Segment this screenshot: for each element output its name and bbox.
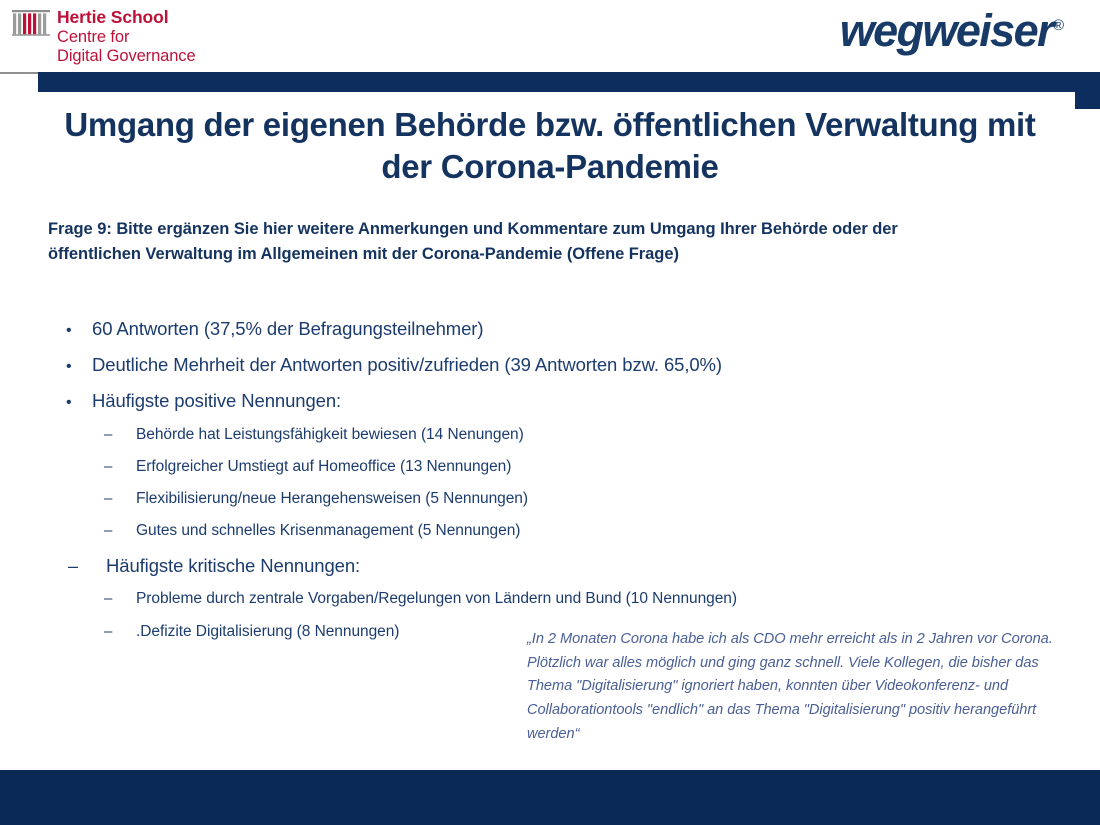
list-item: – Häufigste kritische Nennungen: bbox=[68, 548, 1066, 584]
list-item: • Häufigste positive Nennungen: bbox=[66, 383, 1066, 419]
list-item-label: Erfolgreicher Umstiegt auf Homeoffice (1… bbox=[136, 451, 511, 483]
hertie-school-name: Hertie School bbox=[57, 7, 196, 28]
list-item: – Flexibilisierung/neue Herangehensweise… bbox=[104, 483, 1066, 515]
slide-header: Hertie School Centre for Digital Governa… bbox=[0, 0, 1100, 72]
list-item-label: Deutliche Mehrheit der Antworten positiv… bbox=[92, 347, 722, 383]
bullet-marker: – bbox=[104, 483, 136, 514]
page-title: Umgang der eigenen Behörde bzw. öffentli… bbox=[60, 104, 1040, 188]
list-item: • 60 Antworten (37,5% der Befragungsteil… bbox=[66, 311, 1066, 347]
list-item: – Gutes und schnelles Krisenmanagement (… bbox=[104, 515, 1066, 547]
registered-trademark-icon: ® bbox=[1053, 17, 1064, 34]
bullet-marker: – bbox=[104, 515, 136, 546]
list-item: – Erfolgreicher Umstiegt auf Homeoffice … bbox=[104, 451, 1066, 483]
slide: Hertie School Centre for Digital Governa… bbox=[0, 0, 1100, 825]
list-item-label: Behörde hat Leistungsfähigkeit bewiesen … bbox=[136, 419, 524, 451]
question-text: Frage 9: Bitte ergänzen Sie hier weitere… bbox=[48, 217, 988, 267]
list-item: – Behörde hat Leistungsfähigkeit bewiese… bbox=[104, 419, 1066, 451]
list-item: • Deutliche Mehrheit der Antworten posit… bbox=[66, 347, 1066, 383]
list-item-label: Probleme durch zentrale Vorgaben/Regelun… bbox=[136, 583, 737, 615]
header-divider-rule bbox=[0, 72, 38, 74]
list-item-label: Häufigste kritische Nennungen: bbox=[106, 548, 360, 584]
list-item-label: 60 Antworten (37,5% der Befragungsteilne… bbox=[92, 311, 483, 347]
hertie-school-wordmark: Hertie School Centre for Digital Governa… bbox=[57, 7, 196, 67]
list-item-label: .Defizite Digitalisierung (8 Nennungen) bbox=[136, 616, 399, 648]
bullet-marker: – bbox=[68, 549, 106, 584]
list-item-label: Häufigste positive Nennungen: bbox=[92, 383, 341, 419]
bullet-marker: • bbox=[66, 315, 92, 346]
hertie-school-line3: Digital Governance bbox=[57, 47, 196, 66]
pull-quote: „In 2 Monaten Corona habe ich als CDO me… bbox=[527, 628, 1075, 746]
bullet-list: • 60 Antworten (37,5% der Befragungsteil… bbox=[66, 311, 1066, 648]
list-item-label: Flexibilisierung/neue Herangehensweisen … bbox=[136, 483, 528, 515]
bullet-marker: – bbox=[104, 451, 136, 482]
bullet-marker: • bbox=[66, 351, 92, 382]
wegweiser-logo: wegweiser® bbox=[840, 8, 1064, 53]
hertie-school-logo: Hertie School Centre for Digital Governa… bbox=[12, 7, 196, 67]
header-accent-band bbox=[38, 72, 1100, 92]
wegweiser-wordmark: wegweiser bbox=[840, 5, 1053, 56]
bullet-marker: • bbox=[66, 387, 92, 418]
bullet-marker: – bbox=[104, 583, 136, 614]
bullet-marker: – bbox=[104, 616, 136, 647]
hertie-school-line2: Centre for bbox=[57, 28, 196, 47]
footer-band bbox=[0, 770, 1100, 825]
list-item: – Probleme durch zentrale Vorgaben/Regel… bbox=[104, 583, 1066, 615]
classical-columns-icon bbox=[12, 10, 50, 36]
bullet-marker: – bbox=[104, 419, 136, 450]
list-item-label: Gutes und schnelles Krisenmanagement (5 … bbox=[136, 515, 520, 547]
header-accent-band-tab bbox=[1075, 72, 1100, 109]
